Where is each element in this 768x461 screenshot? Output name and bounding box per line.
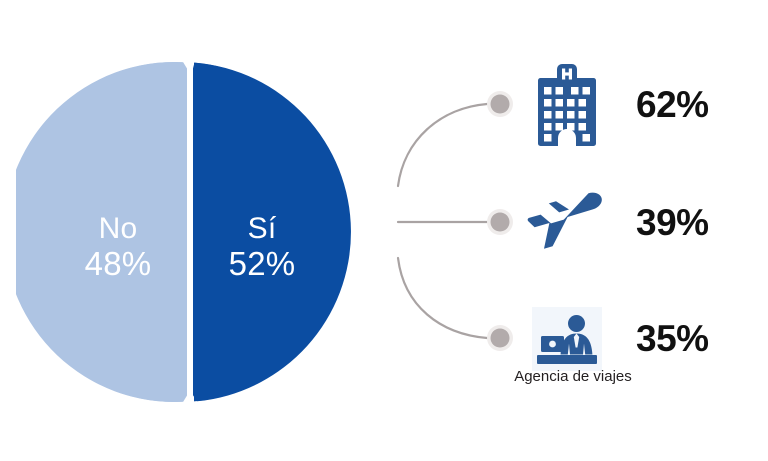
breakdown-value-hotel: 62% <box>636 84 709 126</box>
connector-curve-hotel <box>398 104 487 186</box>
pie-chart-svg <box>16 60 360 404</box>
breakdown-row-hotel[interactable]: 62% <box>524 62 709 148</box>
breakdown-value-agency: 35% <box>636 318 709 360</box>
breakdown-row-flight[interactable]: 39% <box>524 180 709 266</box>
breakdown-caption-agency: Agencia de viajes <box>488 368 658 385</box>
airplane-icon <box>524 180 610 266</box>
hospital-building-icon <box>524 62 610 148</box>
connector-dot-flight <box>487 209 513 235</box>
travel-agent-desk-icon-svg <box>532 307 602 371</box>
connector-curve-agency <box>398 258 487 338</box>
connector-dot-hotel <box>487 91 513 117</box>
connector-dot-agency <box>487 325 513 351</box>
pie-slice-si-body[interactable] <box>193 63 351 402</box>
pie-chart: No 48% Sí 52% <box>16 60 360 404</box>
pie-slice-no-body[interactable] <box>16 62 187 402</box>
infographic-root: No 48% Sí 52% <box>0 0 768 461</box>
hospital-building-icon-svg <box>530 64 604 146</box>
airplane-icon-svg <box>526 190 608 256</box>
breakdown-value-flight: 39% <box>636 202 709 244</box>
